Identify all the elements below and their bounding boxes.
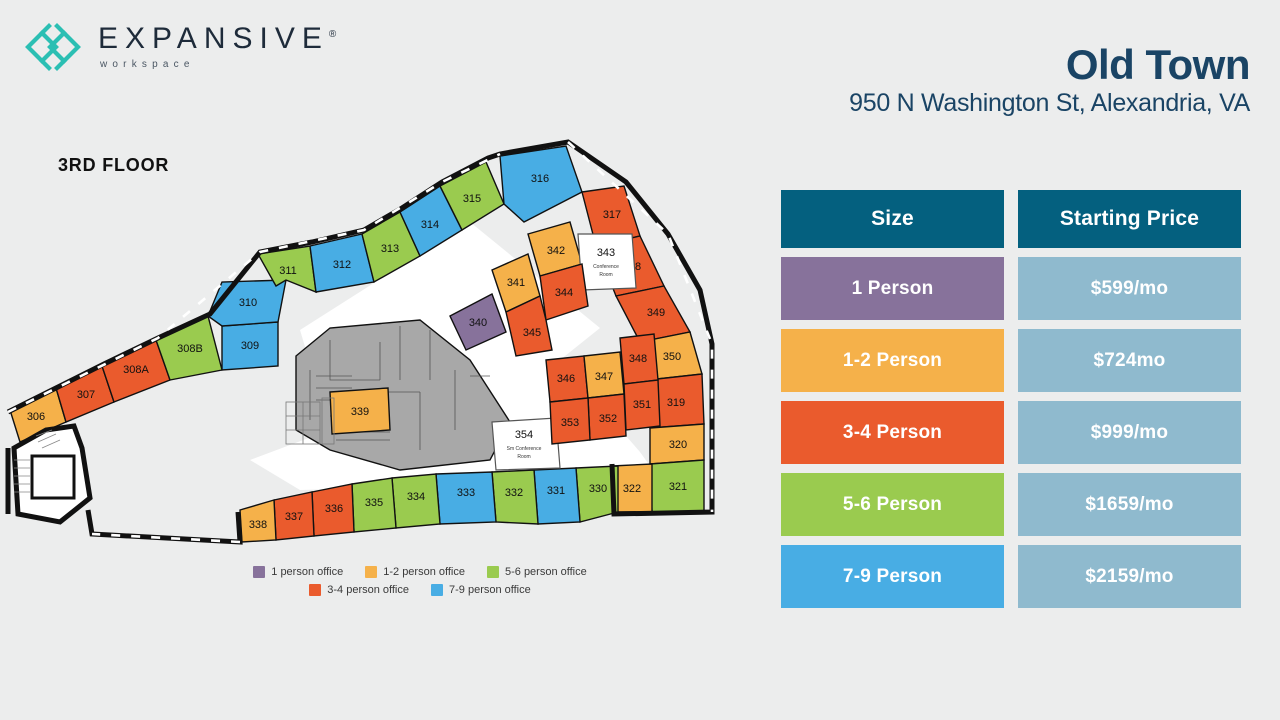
pricing-size-cell: 3-4 Person [781, 401, 1004, 464]
room-354-sm-conference[interactable]: 354 Sm Conference Room [492, 418, 560, 470]
room-label: 312 [333, 259, 351, 271]
room-label: 333 [457, 487, 475, 499]
legend-row-1: 1 person office 1-2 person office 5-6 pe… [210, 566, 630, 578]
room-label: 330 [589, 483, 607, 495]
room-label: 320 [669, 439, 687, 451]
room-label: 331 [547, 485, 565, 497]
room-label: 313 [381, 243, 399, 255]
page-subtitle-address: 950 N Washington St, Alexandria, VA [849, 89, 1250, 118]
room-346[interactable]: 346 [546, 356, 588, 402]
pricing-table: Size Starting Price 1 Person $599/mo 1-2… [781, 190, 1241, 617]
room-337[interactable]: 337 [274, 492, 314, 540]
location-header: Old Town 950 N Washington St, Alexandria… [849, 44, 1250, 118]
room-321[interactable]: 321 [650, 460, 704, 512]
room-label: 314 [421, 219, 439, 231]
legend-label: 3-4 person office [327, 584, 409, 596]
floorplan-svg[interactable]: 306 307 308A 308B 309 310 311 312 [0, 130, 760, 550]
pricing-price-cell: $999/mo [1018, 401, 1241, 464]
pricing-header-size: Size [781, 190, 1004, 248]
pricing-header-price: Starting Price [1018, 190, 1241, 248]
room-label: 332 [505, 487, 523, 499]
room-sublabel-line1: Sm Conference [507, 446, 542, 452]
room-label: 340 [469, 317, 487, 329]
room-348[interactable]: 348 [620, 334, 658, 384]
brand-tagline: workspace [100, 59, 336, 70]
room-label: 348 [629, 353, 647, 365]
room-label: 345 [523, 327, 541, 339]
pricing-price-cell: $1659/mo [1018, 473, 1241, 536]
room-label: 308B [177, 343, 203, 355]
pricing-row-7-9-person[interactable]: 7-9 Person $2159/mo [781, 545, 1241, 608]
legend-label: 5-6 person office [505, 566, 587, 578]
floorplan-page: EXPANSIVE® workspace Old Town 950 N Wash… [0, 0, 1280, 720]
pricing-row-1-2-person[interactable]: 1-2 Person $724mo [781, 329, 1241, 392]
legend-label: 1-2 person office [383, 566, 465, 578]
room-label: 347 [595, 371, 613, 383]
legend-row-2: 3-4 person office 7-9 person office [210, 584, 630, 596]
room-339[interactable]: 339 [330, 388, 390, 434]
room-label: 337 [285, 511, 303, 523]
room-label: 351 [633, 399, 651, 411]
room-label: 339 [351, 406, 369, 418]
pricing-row-3-4-person[interactable]: 3-4 Person $999/mo [781, 401, 1241, 464]
room-331[interactable]: 331 [534, 468, 580, 524]
legend-item-3-4-person: 3-4 person office [309, 584, 409, 596]
legend-item-1-2-person: 1-2 person office [365, 566, 465, 578]
legend-swatch-orange-icon [365, 566, 377, 578]
room-338[interactable]: 338 [240, 500, 276, 542]
legend-swatch-blue-icon [431, 584, 443, 596]
brand-logo: EXPANSIVE® workspace [24, 22, 336, 72]
legend-swatch-red-icon [309, 584, 321, 596]
room-label: 310 [239, 297, 257, 309]
pricing-row-5-6-person[interactable]: 5-6 Person $1659/mo [781, 473, 1241, 536]
room-347[interactable]: 347 [584, 352, 624, 398]
room-label: 350 [663, 351, 681, 363]
room-label: 341 [507, 277, 525, 289]
room-label: 334 [407, 491, 425, 503]
legend-swatch-purple-icon [253, 566, 265, 578]
room-label: 338 [249, 519, 267, 531]
room-label: 353 [561, 417, 579, 429]
room-label: 343 [597, 247, 615, 259]
room-309[interactable]: 309 [222, 322, 278, 370]
room-316[interactable]: 316 [500, 146, 582, 222]
room-label: 321 [669, 481, 687, 493]
pricing-size-cell: 1-2 Person [781, 329, 1004, 392]
pricing-size-cell: 1 Person [781, 257, 1004, 320]
brand-name: EXPANSIVE [98, 22, 329, 55]
pricing-row-1-person[interactable]: 1 Person $599/mo [781, 257, 1241, 320]
brand-wordmark: EXPANSIVE® workspace [98, 24, 336, 70]
room-label: 346 [557, 373, 575, 385]
pricing-size-cell: 7-9 Person [781, 545, 1004, 608]
room-334[interactable]: 334 [392, 474, 440, 528]
pricing-price-cell: $2159/mo [1018, 545, 1241, 608]
room-353[interactable]: 353 [550, 398, 590, 444]
room-label: 307 [77, 389, 95, 401]
legend-item-5-6-person: 5-6 person office [487, 566, 587, 578]
room-label: 344 [555, 287, 573, 299]
room-sublabel-line2: Room [599, 272, 612, 278]
room-label: 319 [667, 397, 685, 409]
floorplan-legend: 1 person office 1-2 person office 5-6 pe… [210, 566, 630, 602]
room-label: 335 [365, 497, 383, 509]
legend-item-1-person: 1 person office [253, 566, 343, 578]
room-label: 309 [241, 340, 259, 352]
room-label: 316 [531, 173, 549, 185]
stairwell-lower-left [14, 426, 90, 522]
room-label: 352 [599, 413, 617, 425]
room-label: 306 [27, 411, 45, 423]
room-label: 311 [279, 265, 297, 277]
legend-item-7-9-person: 7-9 person office [431, 584, 531, 596]
room-sublabel-line2: Room [517, 454, 530, 460]
room-343-conference[interactable]: 343 Conference Room [578, 234, 636, 290]
room-label: 322 [623, 483, 641, 495]
room-label: 349 [647, 307, 665, 319]
room-label: 342 [547, 245, 565, 257]
registered-mark: ® [329, 29, 336, 40]
pricing-price-cell: $599/mo [1018, 257, 1241, 320]
room-351[interactable]: 351 [624, 380, 660, 430]
room-label: 317 [603, 209, 621, 221]
room-label: 308A [123, 364, 149, 376]
room-333[interactable]: 333 [436, 472, 496, 524]
legend-label: 7-9 person office [449, 584, 531, 596]
room-sublabel-line1: Conference [593, 264, 619, 270]
floorplan-map[interactable]: 306 307 308A 308B 309 310 311 312 [0, 130, 760, 550]
room-336[interactable]: 336 [312, 484, 354, 536]
pricing-header-row: Size Starting Price [781, 190, 1241, 248]
room-332[interactable]: 332 [492, 470, 538, 524]
room-335[interactable]: 335 [352, 478, 396, 532]
room-label: 336 [325, 503, 343, 515]
expansive-x-mark-icon [24, 22, 82, 72]
room-352[interactable]: 352 [588, 394, 626, 440]
pricing-price-cell: $724mo [1018, 329, 1241, 392]
page-title: Old Town [849, 44, 1250, 87]
legend-label: 1 person office [271, 566, 343, 578]
legend-swatch-green-icon [487, 566, 499, 578]
room-320[interactable]: 320 [650, 424, 704, 464]
room-label: 354 [515, 429, 533, 441]
pricing-size-cell: 5-6 Person [781, 473, 1004, 536]
room-label: 315 [463, 193, 481, 205]
